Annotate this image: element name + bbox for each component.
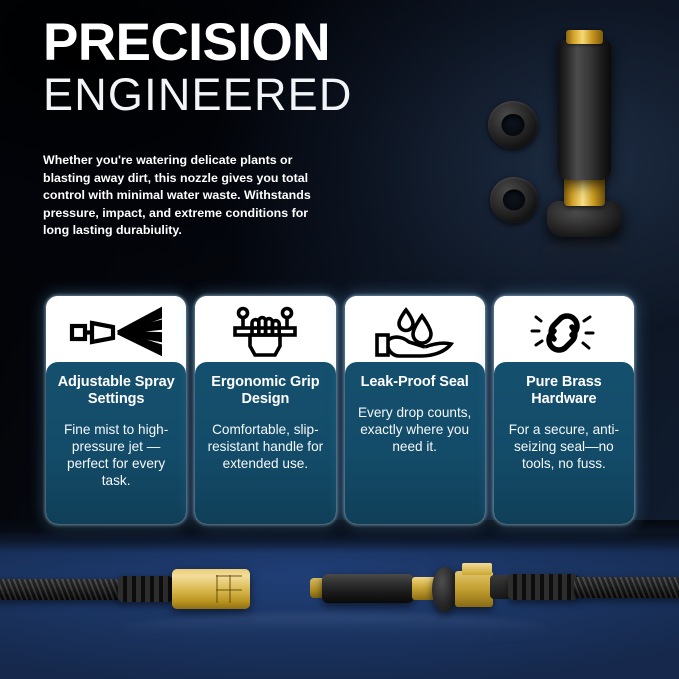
valve-lever [462,563,492,575]
spray-nozzle-icon [46,296,186,368]
feature-card-panel: Adjustable Spray Settings Fine mist to h… [46,362,186,524]
chain-link-sparkle-icon [494,296,634,368]
feature-card-row: Adjustable Spray Settings Fine mist to h… [46,296,634,524]
feature-card: Ergonomic Grip Design Comfortable, slip-… [195,296,335,524]
hand-grip-handle-icon [195,296,335,368]
feature-card-panel: Pure Brass Hardware For a secure, anti-s… [494,362,634,524]
headline-block: PRECISION ENGINEERED [43,18,463,119]
feature-card: Adjustable Spray Settings Fine mist to h… [46,296,186,524]
braided-hose-left [0,579,124,600]
nozzle-brass-collar [566,30,603,44]
feature-card-description: Every drop counts, exactly where you nee… [353,405,477,456]
product-infographic: PRECISION ENGINEERED Whether you're wate… [0,0,679,679]
feature-card-title: Adjustable Spray Settings [54,374,178,408]
header-description: Whether you're watering delicate plants … [43,152,315,240]
nozzle-body [558,40,611,180]
strain-relief-left [118,576,173,602]
feature-card-title: Ergonomic Grip Design [203,374,327,408]
braided-hose-right [574,577,679,598]
feature-card-description: Fine mist to high-pressure jet — perfect… [54,422,178,490]
headline-primary: PRECISION [43,18,463,69]
strain-relief-right [508,574,578,600]
feature-card-panel: Ergonomic Grip Design Comfortable, slip-… [195,362,335,524]
brass-connector [172,569,250,609]
shutoff-valve [455,571,493,607]
feature-card: Pure Brass Hardware For a secure, anti-s… [494,296,634,524]
rubber-washer-top [488,101,538,149]
nozzle-body-right [322,574,414,603]
rubber-washer-bottom [490,177,538,223]
feature-card-panel: Leak-Proof Seal Every drop counts, exact… [345,362,485,524]
nozzle-base [547,201,622,237]
hose-assembly-photo [0,533,679,679]
feature-card-title: Pure Brass Hardware [502,374,626,408]
band-reflection [120,613,550,647]
headline-secondary: ENGINEERED [43,71,463,119]
hero-product-image [452,8,679,288]
feature-card-title: Leak-Proof Seal [353,374,477,391]
feature-card-description: For a secure, anti-seizing seal—no tools… [502,422,626,473]
feature-card-description: Comfortable, slip-resistant handle for e… [203,422,327,473]
hero-reflection [544,237,626,277]
hand-water-drops-icon [345,296,485,368]
feature-card: Leak-Proof Seal Every drop counts, exact… [345,296,485,524]
